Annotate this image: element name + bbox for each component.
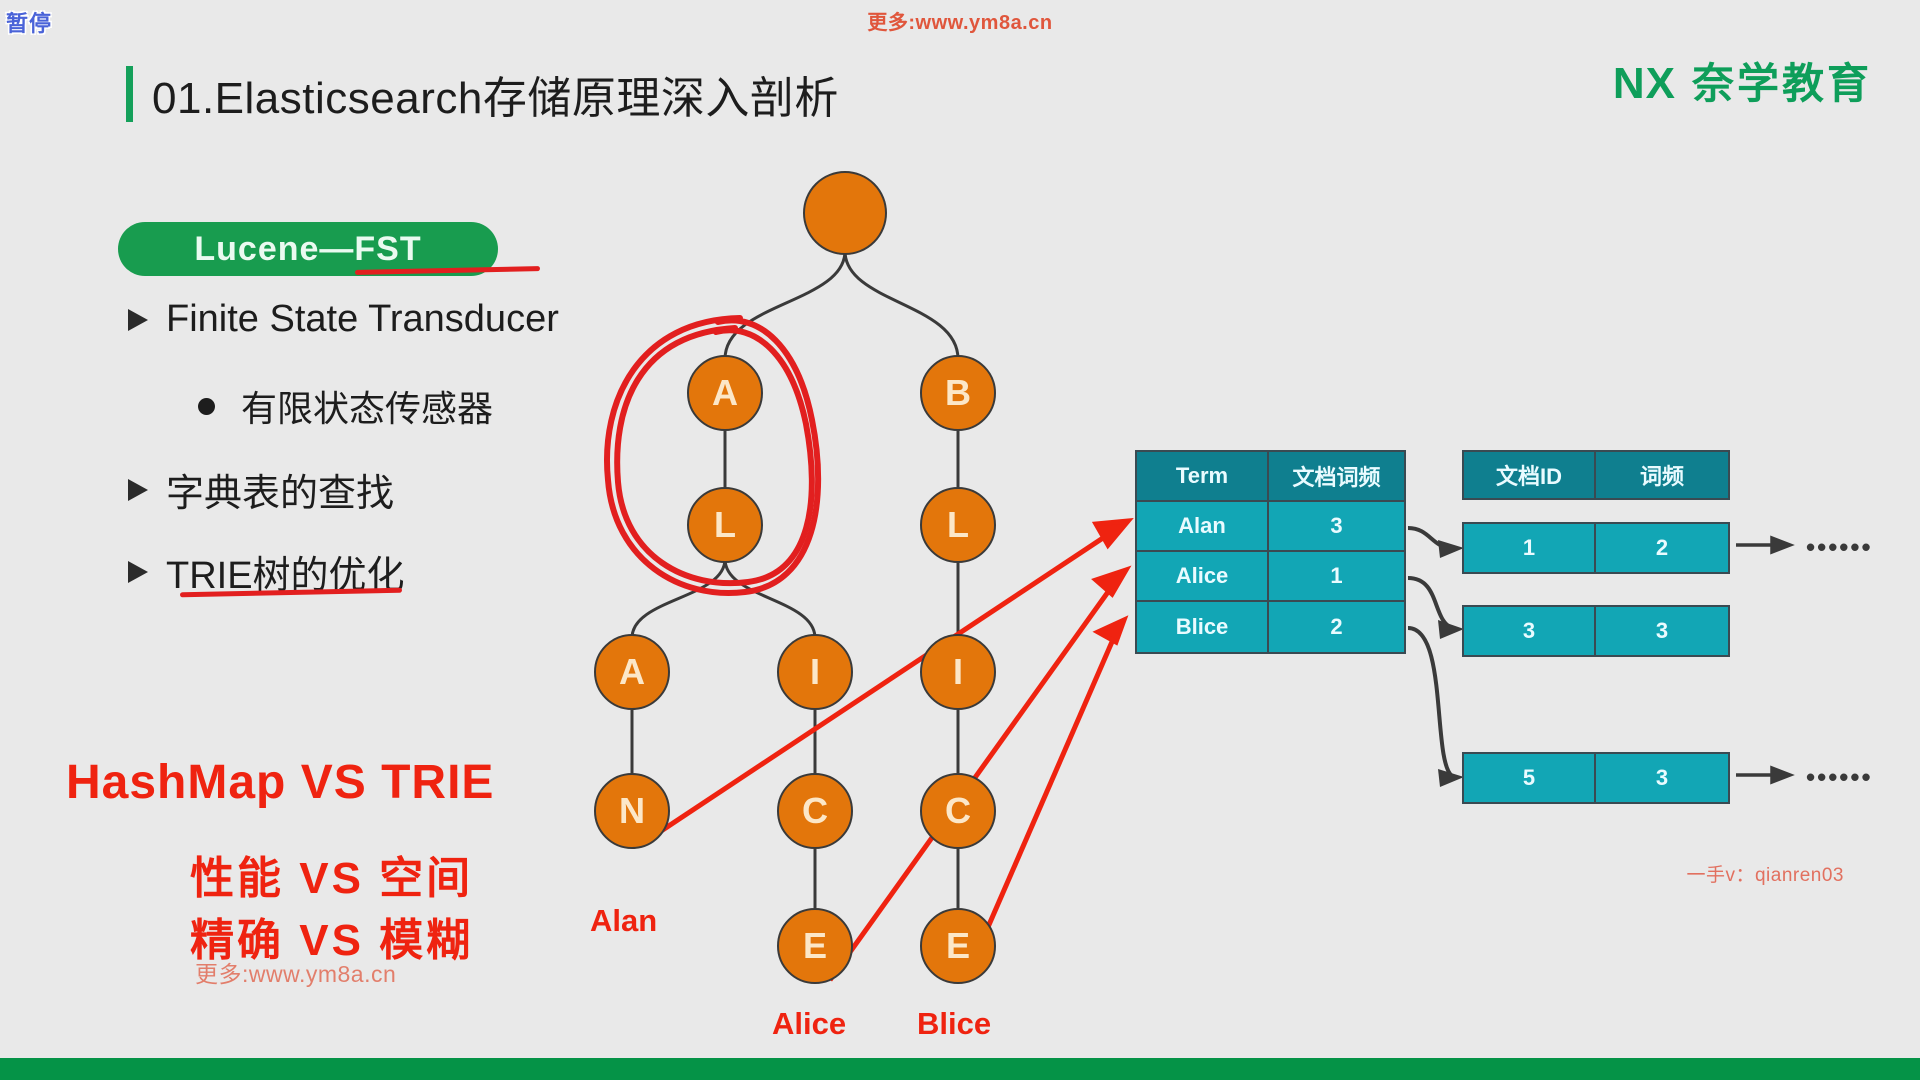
arrow-bullet-icon xyxy=(128,561,148,583)
bullet-item-2: 字典表的查找 xyxy=(128,462,394,517)
tree-edge xyxy=(725,251,845,359)
compare-line-1: 性能 VS 空间 xyxy=(190,842,473,906)
tree-edge xyxy=(632,559,725,638)
watermark-top: 更多:www.ym8a.cn xyxy=(0,6,1920,35)
tree-node-a2: A xyxy=(594,634,670,710)
tree-node-c2: C xyxy=(920,773,996,849)
tree-leaf-label-0: Alan xyxy=(590,903,657,939)
brand-logo: NX 奈学教育 xyxy=(1613,62,1872,106)
posting-row-2: 5 3 xyxy=(1462,752,1730,804)
term-table: Term 文档词频 Alan 3 Alice 1 Blice 2 xyxy=(1135,450,1406,654)
table-header-row: Term 文档词频 xyxy=(1137,452,1404,502)
logo-text: 奈学教育 xyxy=(1692,63,1872,105)
bullet-label-1: 有限状态传感器 xyxy=(241,380,493,432)
tree-node-i1: I xyxy=(777,634,853,710)
title-accent-bar xyxy=(126,66,133,122)
posting-row-0: 1 2 xyxy=(1462,522,1730,574)
posting-docid-0: 1 xyxy=(1464,524,1596,572)
tree-edge xyxy=(845,251,958,359)
tree-node-e2: E xyxy=(920,908,996,984)
table-row: Alan 3 xyxy=(1137,502,1404,552)
posting-header-0: 文档ID xyxy=(1464,452,1596,498)
page-title: 01.Elasticsearch存储原理深入剖析 xyxy=(152,62,839,126)
term-table-header-0: Term xyxy=(1137,452,1269,502)
posting-ellipsis-0: •••••• xyxy=(1806,532,1873,563)
tree-node-e1: E xyxy=(777,908,853,984)
bullet-label-0: Finite State Transducer xyxy=(166,298,559,341)
tree-node-i2: I xyxy=(920,634,996,710)
slide-canvas: 暂停 更多:www.ym8a.cn 更多:www.ym8a.cn 一手v：qia… xyxy=(0,0,1920,1080)
posting-connector-arrowheads xyxy=(1438,540,1464,787)
posting-list-header: 文档ID 词频 xyxy=(1462,450,1730,500)
posting-docid-2: 5 xyxy=(1464,754,1596,802)
bullet-item-0: Finite State Transducer xyxy=(128,298,559,341)
logo-mark-icon: NX xyxy=(1613,62,1676,106)
tree-node-l1: L xyxy=(687,487,763,563)
term-cell-term-2: Blice xyxy=(1137,602,1269,652)
table-header-row: 文档ID 词频 xyxy=(1464,452,1728,498)
dot-bullet-icon xyxy=(198,398,215,415)
red-pointer-arrows xyxy=(640,521,1128,980)
compare-heading: HashMap VS TRIE xyxy=(66,755,494,810)
tree-node-a1: A xyxy=(687,355,763,431)
posting-row-1: 3 3 xyxy=(1462,605,1730,657)
compare-line-2: 精确 VS 模糊 xyxy=(190,904,473,968)
tree-leaf-label-2: Blice xyxy=(917,1006,991,1042)
posting-ellipsis-2: •••••• xyxy=(1806,762,1873,793)
posting-freq-0: 2 xyxy=(1596,524,1728,572)
watermark-right: 一手v：qianren03 xyxy=(1686,860,1844,887)
table-row: Blice 2 xyxy=(1137,602,1404,652)
arrow-bullet-icon xyxy=(128,309,148,331)
tree-leaf-label-1: Alice xyxy=(772,1006,846,1042)
term-cell-freq-1: 1 xyxy=(1269,552,1404,602)
tree-node-root xyxy=(803,171,887,255)
term-cell-term-1: Alice xyxy=(1137,552,1269,602)
posting-connector-arrows xyxy=(1408,528,1452,776)
bullet-label-2: 字典表的查找 xyxy=(166,462,394,517)
tree-node-c1: C xyxy=(777,773,853,849)
posting-freq-1: 3 xyxy=(1596,607,1728,655)
term-cell-term-0: Alan xyxy=(1137,502,1269,552)
tree-node-b1: B xyxy=(920,355,996,431)
term-cell-freq-0: 3 xyxy=(1269,502,1404,552)
arrow-bullet-icon xyxy=(128,479,148,501)
posting-docid-1: 3 xyxy=(1464,607,1596,655)
tree-node-n1: N xyxy=(594,773,670,849)
posting-trailing-arrows xyxy=(1736,538,1790,782)
tree-node-l2: L xyxy=(920,487,996,563)
bullet-item-1: 有限状态传感器 xyxy=(198,380,493,432)
bottom-accent-bar xyxy=(0,1058,1920,1080)
posting-header-1: 词频 xyxy=(1596,452,1728,498)
table-row: Alice 1 xyxy=(1137,552,1404,602)
term-cell-freq-2: 2 xyxy=(1269,602,1404,652)
posting-freq-2: 3 xyxy=(1596,754,1728,802)
term-table-header-1: 文档词频 xyxy=(1269,452,1404,502)
tree-edge xyxy=(725,559,815,638)
